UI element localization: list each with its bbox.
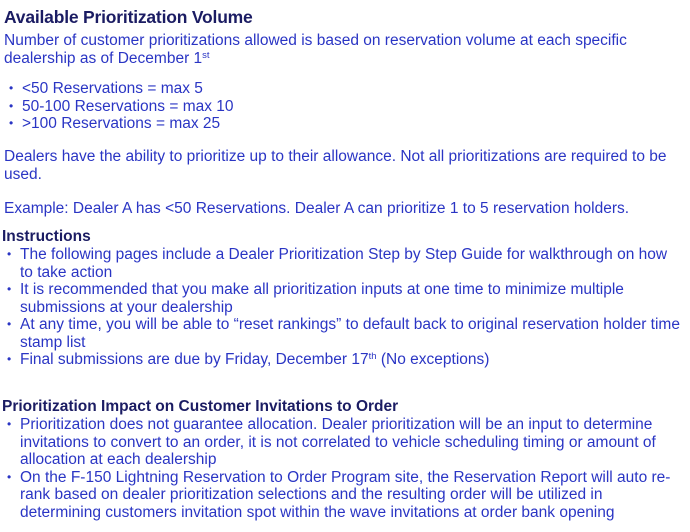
instructions-bullet-list: •The following pages include a Dealer Pr… — [0, 246, 684, 371]
list-item-label: It is recommended that you make all prio… — [20, 281, 624, 316]
list-item: •<50 Reservations = max 5 — [0, 80, 680, 98]
list-item-label: At any time, you will be able to “reset … — [20, 316, 680, 351]
list-item: •>100 Reservations = max 25 — [0, 115, 680, 133]
bullet-icon: • — [7, 351, 11, 369]
list-item: •Final submissions are due by Friday, De… — [0, 351, 684, 371]
list-item-label: 50-100 Reservations = max 10 — [22, 98, 234, 115]
list-item-label: Final submissions are due by Friday, Dec… — [20, 351, 369, 368]
bullet-icon: • — [7, 246, 11, 264]
list-item: •The following pages include a Dealer Pr… — [0, 246, 684, 281]
list-item: •Prioritization does not guarantee alloc… — [0, 416, 686, 469]
bullet-icon: • — [7, 281, 11, 299]
allowance-paragraph: Dealers have the ability to prioritize u… — [4, 148, 682, 184]
date-ordinal-suffix: th — [369, 351, 377, 362]
impact-bullet-list: •Prioritization does not guarantee alloc… — [0, 416, 686, 521]
example-paragraph: Example: Dealer A has <50 Reservations. … — [4, 200, 688, 218]
instructions-heading: Instructions — [2, 228, 91, 246]
page-title: Available Prioritization Volume — [4, 7, 253, 28]
bullet-icon: • — [7, 316, 11, 334]
volume-bullet-list: •<50 Reservations = max 5 •50-100 Reserv… — [0, 80, 680, 133]
bullet-icon: • — [7, 416, 11, 434]
bullet-icon: • — [7, 469, 11, 487]
list-item-label: The following pages include a Dealer Pri… — [20, 246, 667, 281]
list-item-label: <50 Reservations = max 5 — [22, 80, 203, 97]
list-item: •50-100 Reservations = max 10 — [0, 98, 680, 116]
intro-ordinal-suffix: st — [202, 50, 209, 61]
bullet-icon: • — [9, 80, 13, 98]
list-item: •At any time, you will be able to “reset… — [0, 316, 684, 351]
list-item: •It is recommended that you make all pri… — [0, 281, 684, 316]
list-item-label: On the F-150 Lightning Reservation to Or… — [20, 469, 670, 521]
impact-heading: Prioritization Impact on Customer Invita… — [2, 398, 398, 416]
intro-text: Number of customer prioritizations allow… — [4, 32, 627, 67]
list-item-label-tail: (No exceptions) — [377, 351, 490, 368]
slide-page: Available Prioritization Volume Number o… — [0, 0, 690, 532]
list-item-label: >100 Reservations = max 25 — [22, 115, 220, 132]
list-item-label: Prioritization does not guarantee alloca… — [20, 416, 656, 468]
bullet-icon: • — [9, 115, 13, 133]
list-item: •On the F-150 Lightning Reservation to O… — [0, 469, 686, 522]
intro-paragraph: Number of customer prioritizations allow… — [4, 32, 680, 70]
bullet-icon: • — [9, 98, 13, 116]
